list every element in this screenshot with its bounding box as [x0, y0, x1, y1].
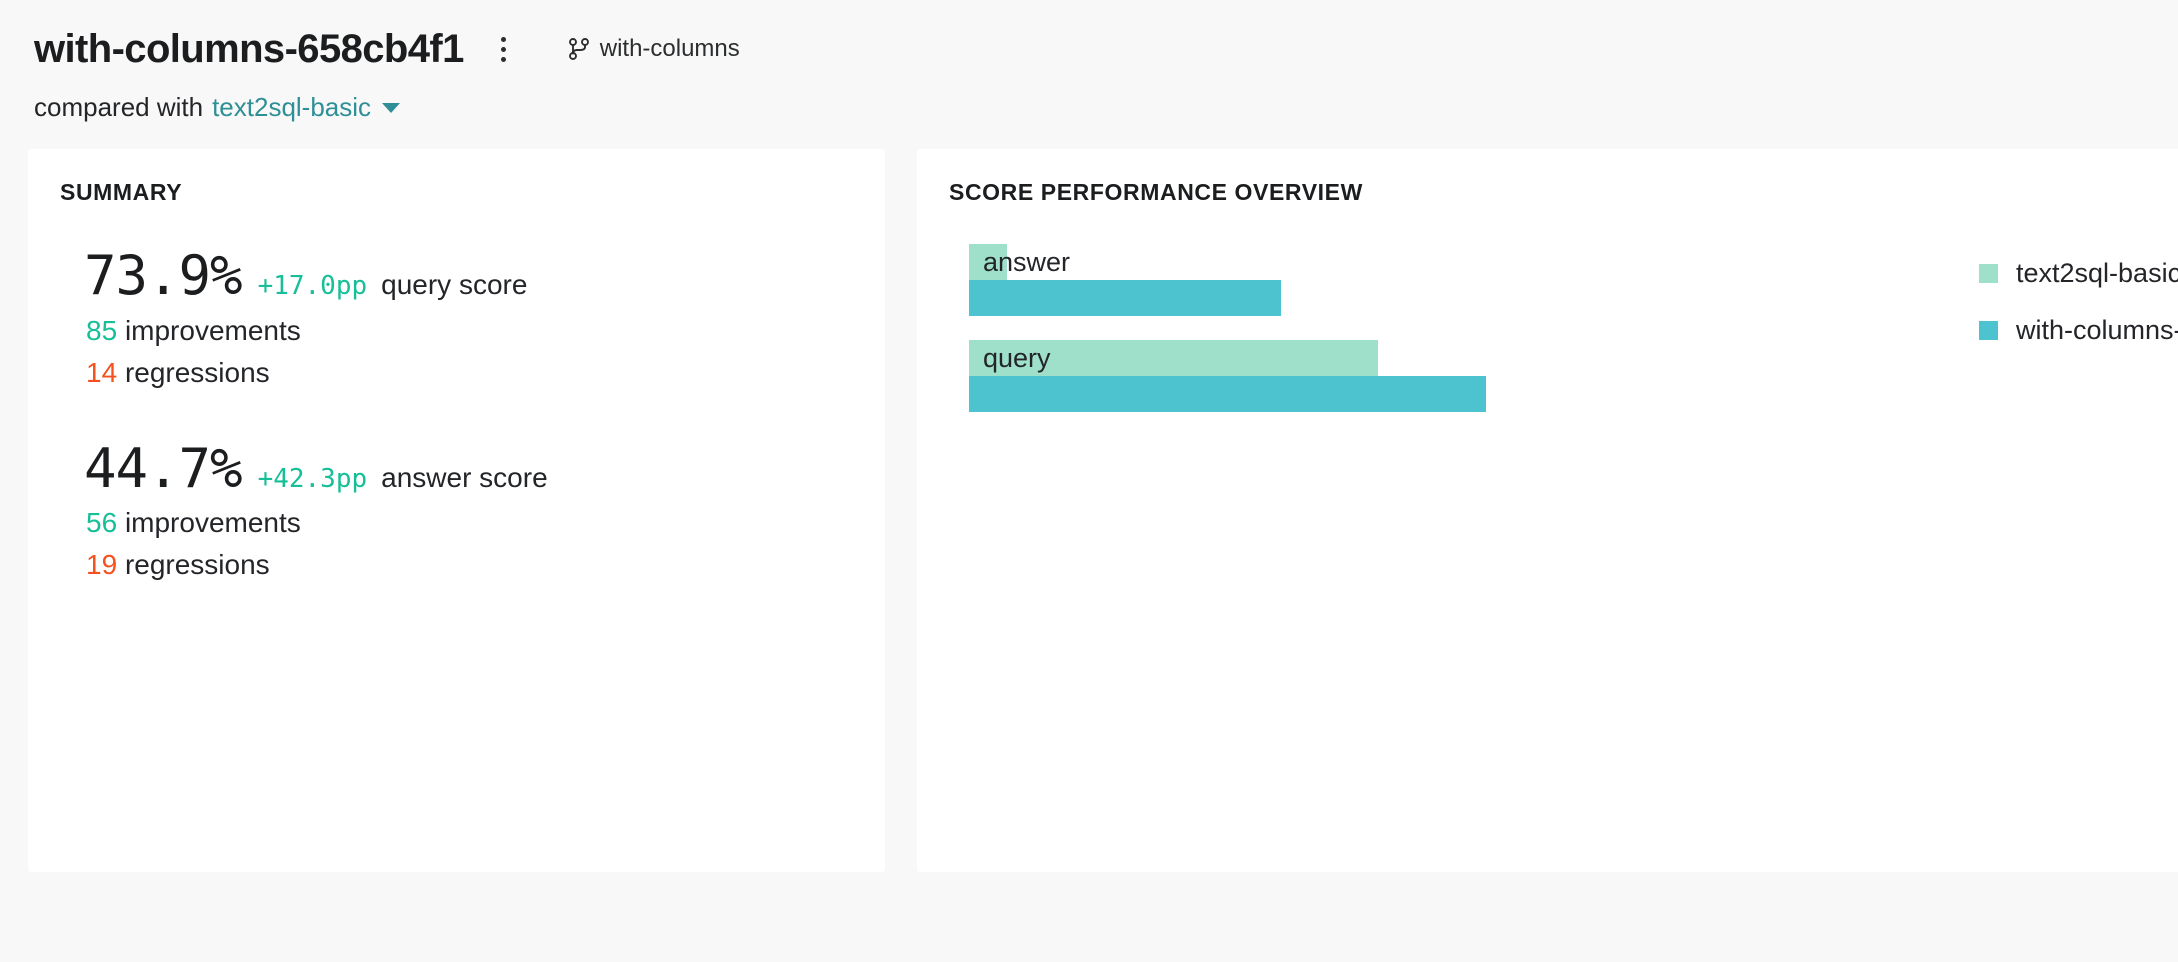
kebab-dot	[501, 37, 506, 42]
metric-delta: +17.0pp	[258, 271, 368, 301]
page-title: with-columns-658cb4f1	[34, 29, 464, 69]
legend-item-baseline[interactable]: text2sql-basic	[1979, 258, 2178, 289]
improvements-row: 85 improvements	[58, 315, 857, 347]
regressions-row: 19 regressions	[58, 549, 857, 581]
metric-label: answer score	[381, 462, 548, 494]
compared-with-row: compared with text2sql-basic	[34, 92, 2178, 123]
metric-value: 44.7%	[84, 441, 242, 498]
bar-row-current[interactable]	[969, 376, 1789, 412]
chart-area: answer query	[947, 244, 2178, 412]
summary-card: SUMMARY 73.9% +17.0pp query score 85 imp…	[28, 149, 885, 872]
metrics-list: 73.9% +17.0pp query score 85 improvement…	[58, 248, 857, 581]
regressions-label: regressions	[125, 549, 270, 580]
more-options-icon[interactable]	[482, 27, 526, 71]
metric-value: 73.9%	[84, 248, 242, 305]
metric-block-answer: 44.7% +42.3pp answer score 56 improvemen…	[58, 441, 857, 582]
bar-baseline-query	[969, 340, 1378, 376]
chart-legend: text2sql-basic with-columns-658cb4f1	[1979, 244, 2178, 412]
chart-heading: SCORE PERFORMANCE OVERVIEW	[949, 179, 2178, 206]
summary-heading: SUMMARY	[60, 179, 857, 206]
bar-row-baseline[interactable]: answer	[969, 244, 1789, 280]
improvements-label: improvements	[125, 315, 301, 346]
metric-headline: 44.7% +42.3pp answer score	[58, 441, 857, 498]
bar-current-query	[969, 376, 1486, 412]
legend-label: text2sql-basic	[2016, 258, 2178, 289]
metric-block-query: 73.9% +17.0pp query score 85 improvement…	[58, 248, 857, 389]
bar-group-query: query	[969, 340, 1789, 412]
kebab-dot	[501, 47, 506, 52]
bar-row-current[interactable]	[969, 280, 1789, 316]
branch-name: with-columns	[600, 35, 740, 63]
branch-chip[interactable]: with-columns	[568, 35, 740, 63]
regressions-count: 19	[86, 549, 117, 580]
metric-delta: +42.3pp	[258, 464, 368, 494]
title-row: with-columns-658cb4f1 with-columns	[34, 24, 2178, 74]
metric-label: query score	[381, 269, 527, 301]
page-header: with-columns-658cb4f1 with-columns compa…	[0, 0, 2178, 123]
kebab-dot	[501, 57, 506, 62]
legend-item-current[interactable]: with-columns-658cb4f1	[1979, 315, 2178, 346]
improvements-count: 85	[86, 315, 117, 346]
bar-chart: answer query	[947, 244, 1789, 412]
bar-baseline-answer	[969, 244, 1007, 280]
bar-current-answer	[969, 280, 1281, 316]
compared-with-label: compared with	[34, 92, 203, 123]
legend-swatch-icon	[1979, 321, 1998, 340]
improvements-row: 56 improvements	[58, 507, 857, 539]
legend-label: with-columns-658cb4f1	[2016, 315, 2178, 346]
score-performance-card: SCORE PERFORMANCE OVERVIEW answer query	[917, 149, 2178, 872]
bar-group-answer: answer	[969, 244, 1789, 316]
chevron-down-icon[interactable]	[382, 103, 400, 113]
git-branch-icon	[568, 37, 590, 61]
improvements-label: improvements	[125, 507, 301, 538]
comparison-target-link[interactable]: text2sql-basic	[212, 92, 371, 123]
metric-headline: 73.9% +17.0pp query score	[58, 248, 857, 305]
regressions-count: 14	[86, 357, 117, 388]
cards-row: SUMMARY 73.9% +17.0pp query score 85 imp…	[0, 123, 2178, 847]
regressions-label: regressions	[125, 357, 270, 388]
bar-row-baseline[interactable]: query	[969, 340, 1789, 376]
legend-swatch-icon	[1979, 264, 1998, 283]
improvements-count: 56	[86, 507, 117, 538]
regressions-row: 14 regressions	[58, 357, 857, 389]
